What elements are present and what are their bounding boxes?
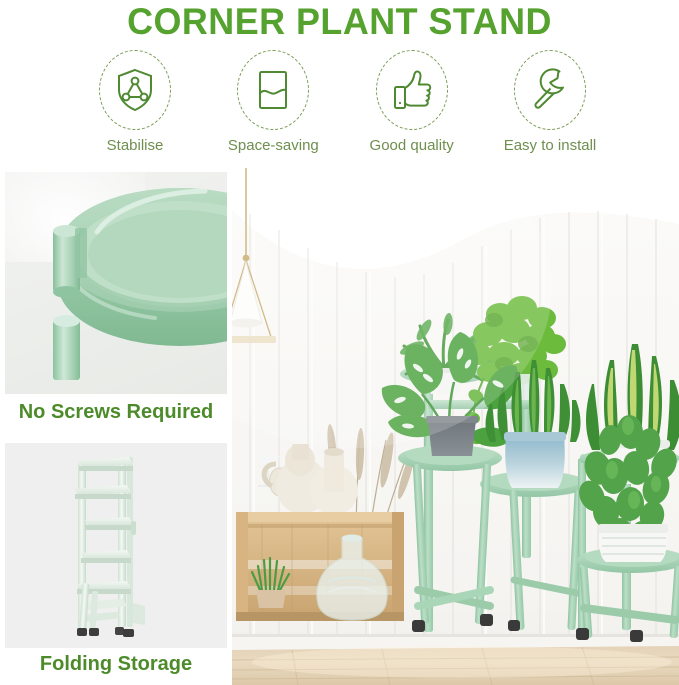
- folded-shelf: [85, 517, 133, 530]
- room-scene-photo: [232, 168, 679, 685]
- blue-gradient-pot: [505, 436, 565, 488]
- white-ribbed-pot: [599, 528, 667, 562]
- folded-stand-illustration: [5, 443, 227, 648]
- panel-caption-no-screws: No Screws Required: [5, 401, 227, 424]
- stand-feet: [77, 627, 134, 637]
- feature-item-good-quality: Good quality: [347, 50, 477, 154]
- feature-list: Stabilise Space-saving: [70, 50, 615, 160]
- header: CORNER PLANT STAND Stabilise: [0, 0, 679, 165]
- infographic-page: CORNER PLANT STAND Stabilise: [0, 0, 679, 685]
- feature-label: Good quality: [370, 137, 454, 154]
- folded-shelf: [81, 550, 131, 563]
- feature-ring: [514, 50, 586, 130]
- feature-item-stabilise: Stabilise: [70, 50, 200, 154]
- feature-ring: [237, 50, 309, 130]
- feature-ring: [99, 50, 171, 130]
- feature-label: Easy to install: [504, 137, 597, 154]
- feature-label: Space-saving: [228, 137, 319, 154]
- feature-label: Stabilise: [107, 137, 164, 154]
- space-saving-icon: [252, 67, 294, 113]
- round-tray-illustration: [5, 172, 227, 394]
- feature-item-easy-to-install: Easy to install: [485, 50, 615, 154]
- panel-no-screws: [5, 172, 227, 394]
- shield-stability-icon: [114, 67, 156, 113]
- feature-ring: [376, 50, 448, 130]
- feature-item-space-saving: Space-saving: [208, 50, 338, 154]
- folded-shelf: [79, 457, 133, 471]
- wrench-icon: [528, 67, 572, 113]
- panel-caption-folding-storage: Folding Storage: [5, 653, 227, 676]
- page-title: CORNER PLANT STAND: [10, 1, 669, 43]
- panel-folding-storage: [5, 443, 227, 648]
- small-terracotta-pot: [256, 590, 286, 608]
- thumbs-up-icon: [390, 67, 434, 113]
- leg-post-detached: [53, 315, 80, 380]
